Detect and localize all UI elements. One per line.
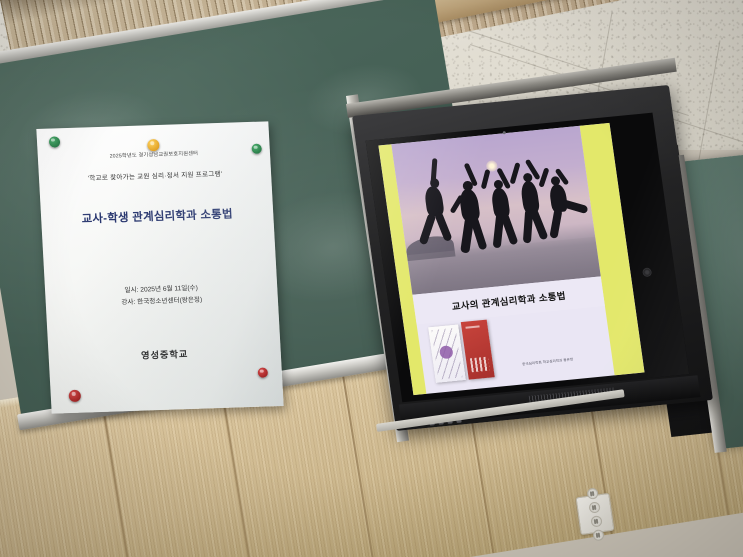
poster-organization-line: 2025학년도 경기성남교권보호지원센터 [109,150,198,160]
book-cover-left [428,324,466,382]
outlet-socket[interactable] [590,515,602,527]
display-screen[interactable]: 교사의 관계심리학과 소통법 한국심리학회 학교심리학과 왕은정 [366,113,690,403]
outlet-socket[interactable] [588,501,600,513]
poster-school-name: 영성중학교 [141,346,189,362]
silhouette-leg [561,199,588,214]
silhouette-leg [500,213,519,246]
poster-lecturer-line: 강사: 한국청소년센터(왕은정) [121,294,202,308]
display-bezel: 교사의 관계심리학과 소통법 한국심리학회 학교심리학과 왕은정 [352,85,713,431]
silhouette-leg [469,216,487,251]
classroom-photo: 2025학년도 경기성남교권보호지원센터 '학교로 찾아가는 교원 심리·정서 … [0,0,743,557]
silhouette-leg [549,208,562,239]
slide-photo-jumping-silhouettes [391,126,600,295]
outlet-socket[interactable] [586,487,598,499]
outlet-socket[interactable] [592,529,604,541]
book-cover-figure [470,357,490,373]
silhouette-arm [538,167,549,187]
poster-title: 교사-학생 관계심리학과 소통법 [81,206,233,227]
slide-credit-line: 한국심리학회 학교심리학과 왕은정 [522,352,614,366]
silhouette-arm [481,169,491,189]
book-cover-right [461,320,495,380]
wall-outlet[interactable] [576,493,615,535]
silhouette-arm [510,162,521,184]
book-cover-rule [465,325,479,328]
presentation-slide: 교사의 관계심리학과 소통법 한국심리학회 학교심리학과 왕은정 [378,123,644,395]
announcement-poster[interactable]: 2025학년도 경기성남교권보호지원센터 '학교로 찾아가는 교원 심리·정서 … [36,121,283,413]
poster-program-line: '학교로 찾아가는 교원 심리·정서 지원 프로그램' [87,168,222,182]
wall-display[interactable]: 교사의 관계심리학과 소통법 한국심리학회 학교심리학과 왕은정 [352,104,682,434]
